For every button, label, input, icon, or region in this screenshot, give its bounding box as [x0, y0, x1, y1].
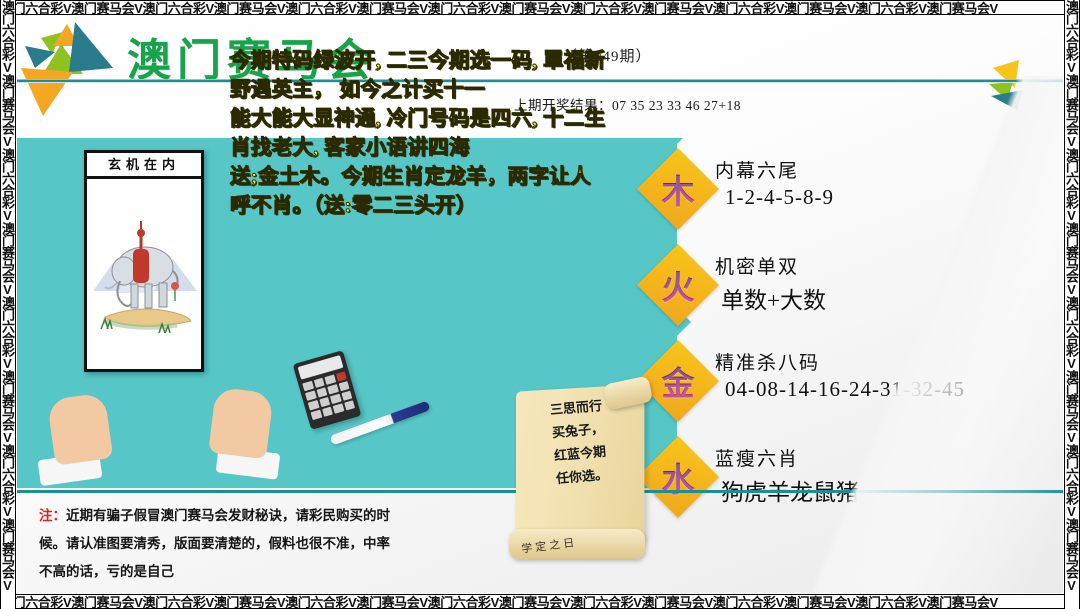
hand-left	[47, 392, 114, 465]
marquee-text-right: 澳门六合彩V澳门赛马会V	[1064, 0, 1079, 148]
prediction-title-wood: 内幕六尾	[715, 156, 799, 183]
marquee-text-left: 澳门六合彩V澳门赛马会V	[0, 0, 15, 148]
verse-line-5: 送;金土木。今期生肖定龙羊，两字让人	[230, 163, 670, 192]
mystery-picture-frame: 玄机在内	[84, 150, 204, 372]
marquee-border-left: 澳门六合彩V澳门赛马会V澳门六合彩V澳门赛马会V澳门六合彩V澳门赛马会V澳门六合…	[0, 0, 16, 609]
element-badge-fire: 火	[637, 244, 719, 326]
marquee-border-right: 澳门六合彩V澳门赛马会V澳门六合彩V澳门赛马会V澳门六合彩V澳门赛马会V澳门六合…	[1064, 0, 1080, 609]
element-badge-fire-label: 火	[649, 256, 707, 314]
verse-line-2: 野遇英主， 如今之计买十一	[230, 76, 670, 105]
note-line-3: 不高的话，亏的是自己	[39, 558, 559, 586]
wisdom-scroll: 三思而行 买兔子， 红蓝今期 任你选。 学定之日	[507, 374, 659, 574]
note-line-2: 候。请认准图要清秀，版面要清楚的，假料也很不准，中率	[39, 530, 559, 558]
prediction-title-metal: 精准杀八码	[715, 348, 820, 375]
note-line-1: 注：近期有骗子假冒澳门赛马会发财秘诀，请彩民购买的时	[39, 502, 559, 530]
marquee-border-bottom: 澳门六合彩V澳门赛马会V澳门六合彩V澳门赛马会V澳门六合彩V澳门赛马会V澳门六合…	[0, 594, 1080, 609]
picture-caption: 玄机在内	[87, 153, 201, 179]
decorative-triangles-right	[933, 16, 1063, 134]
prediction-row-wood: 木 内幕六尾 1-2-4-5-8-9	[649, 152, 1063, 248]
triangle-cluster-mirror-icon	[933, 16, 1063, 134]
poster-canvas: 澳门赛马会 （第049期） 上期开奖结果：07 35 23 33 46 27+1…	[17, 16, 1063, 593]
disclaimer-note: 注：近期有骗子假冒澳门赛马会发财秘诀，请彩民购买的时 候。请认准图要清秀，版面要…	[39, 502, 559, 586]
scroll-text: 三思而行 买兔子， 红蓝今期 任你选。	[525, 392, 633, 492]
prediction-value-wood: 1-2-4-5-8-9	[725, 185, 834, 210]
prediction-title-fire: 机密单双	[715, 252, 799, 279]
verse-line-4: 肖找老大, 客家小语讲四海	[230, 134, 670, 163]
calculator-keys	[302, 371, 355, 420]
prediction-title-water: 蓝瘦六肖	[715, 444, 799, 471]
verse-line-3: 能大能大显神通, 冷门号码是四六, 十二生	[230, 105, 670, 134]
note-tag: 注：	[39, 508, 66, 523]
prediction-row-fire: 火 机密单双 单数+大数	[649, 248, 1063, 344]
marquee-text-bottom: 澳门六合彩V澳门赛马会V	[0, 595, 143, 609]
verse-line-1: 今期特码绿波开, 二三今期选一码, 單福新	[230, 47, 670, 76]
element-badge-wood-label: 木	[649, 160, 707, 218]
picture-body	[87, 179, 201, 369]
prediction-value-fire: 单数+大数	[721, 281, 826, 315]
hand-right	[208, 387, 274, 460]
verse-line-6: 呼不肖。（送:零二三头开）	[230, 192, 670, 221]
marquee-text-top: 澳门六合彩V澳门赛马会V	[0, 1, 143, 15]
prediction-list: 木 内幕六尾 1-2-4-5-8-9 火 机密单双 单数+大数 金 精准杀八码 …	[649, 152, 1063, 536]
element-badge-wood: 木	[637, 148, 719, 230]
prediction-row-metal: 金 精准杀八码 04-08-14-16-24-31-32-45	[649, 344, 1063, 440]
fortune-verse-text: 今期特码绿波开, 二三今期选一码, 單福新 野遇英主， 如今之计买十一 能大能大…	[230, 47, 670, 221]
prediction-value-metal: 04-08-14-16-24-31-32-45	[725, 377, 965, 402]
marquee-border-top: 澳门六合彩V澳门赛马会V澳门六合彩V澳门赛马会V澳门六合彩V澳门赛马会V澳门六合…	[0, 0, 1080, 15]
elephant-illustration-icon	[87, 179, 201, 369]
poster-root: 澳门六合彩V澳门赛马会V澳门六合彩V澳门赛马会V澳门六合彩V澳门赛马会V澳门六合…	[0, 0, 1080, 609]
prediction-row-water: 水 蓝瘦六肖 狗虎羊龙鼠猪	[649, 440, 1063, 536]
note-text-1: 近期有骗子假冒澳门赛马会发财秘诀，请彩民购买的时	[66, 508, 390, 523]
